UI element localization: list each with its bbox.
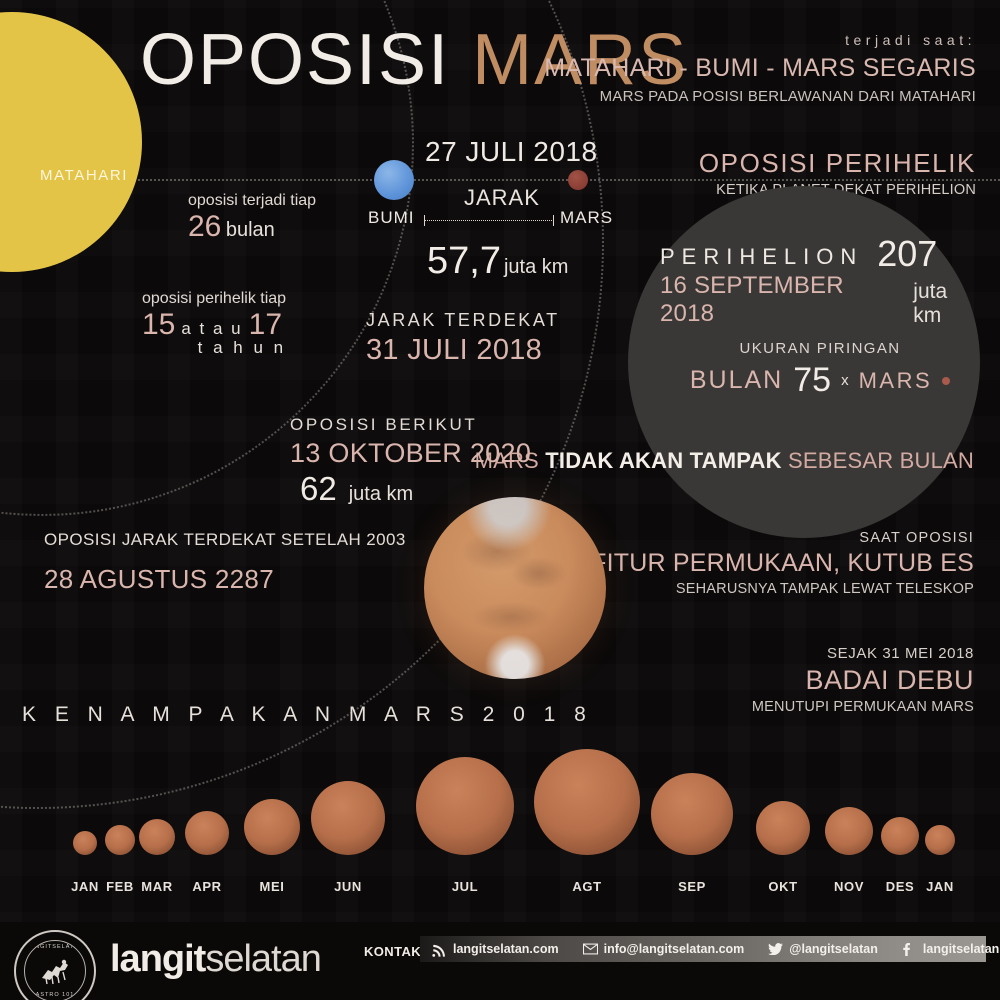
next-opposition-unit: juta km: [349, 483, 413, 506]
opposition-interval-row: 26 bulan: [188, 210, 316, 244]
disk-size-multiplier: 75: [793, 361, 831, 400]
perihelic-interval-n2: 17: [249, 308, 282, 342]
perihelic-interval-or: a t a u: [181, 319, 242, 339]
mars-size-timeline: JANFEBMARAPRMEIJUNJULAGTSEPOKTNOVDESJAN: [0, 745, 1000, 895]
mars-disk-okt: [756, 801, 810, 855]
opposition-interval-unit: bulan: [226, 219, 275, 241]
opposition-interval-block: oposisi terjadi tiap 26 bulan: [188, 192, 316, 244]
moon-word: BULAN: [690, 366, 783, 395]
email-icon: [583, 943, 598, 956]
occurs-when-block: terjadi saat: MATAHARI - BUMI - MARS SEG…: [544, 32, 976, 105]
next-opposition-caption: OPOSISI BERIKUT: [290, 415, 531, 435]
mars-disk-small: [568, 170, 588, 190]
opposition-date: 27 JULI 2018: [425, 136, 598, 168]
dust-storm-caption: SEJAK 31 MEI 2018: [752, 645, 974, 662]
logo-bottom-text: ASTRO 101: [25, 992, 85, 998]
month-label-jul: JUL: [452, 879, 478, 894]
mars-photo-large: [424, 497, 606, 679]
brand-selatan: selatan: [205, 938, 321, 980]
contact-text: @langitselatan: [789, 942, 878, 956]
occurs-when-line1: MATAHARI - BUMI - MARS SEGARIS: [544, 54, 976, 83]
month-label-okt: OKT: [768, 879, 797, 894]
closest-after-2003-caption: OPOSISI JARAK TERDEKAT SETELAH 2003: [44, 530, 406, 550]
distance-word: JARAK: [464, 185, 540, 211]
month-label-des: DES: [886, 879, 915, 894]
contact-label: KONTAK:: [364, 944, 426, 959]
opposition-interval-number: 26: [188, 210, 221, 243]
earth-disk: [374, 160, 414, 200]
perihelic-interval-row: 15 a t a u 17: [142, 308, 286, 342]
contact-email[interactable]: info@langitselatan.com: [571, 942, 757, 956]
earth-label: BUMI: [368, 208, 415, 228]
mars-disk-jan: [925, 825, 955, 855]
month-label-apr: APR: [192, 879, 221, 894]
mars-disk-jun: [311, 781, 385, 855]
surface-features-block: SAAT OPOSISI FITUR PERMUKAAN, KUTUB ES S…: [591, 530, 974, 597]
opposition-interval-caption: oposisi terjadi tiap: [188, 192, 316, 210]
mars-disk-agt: [534, 749, 640, 855]
mars-disk-des: [881, 817, 919, 855]
disk-size-row: BULAN 75 x MARS: [660, 361, 980, 400]
langitselatan-logo: LANGITSELATAN ASTRO 101: [14, 930, 96, 1000]
closest-after-2003-block: OPOSISI JARAK TERDEKAT SETELAH 2003 28 A…: [44, 530, 406, 595]
contact-twitter[interactable]: @langitselatan: [756, 942, 890, 956]
next-opposition-date: 13 OKTOBER 2020: [290, 438, 531, 469]
perihelion-row-1: PERIHELION 207: [660, 238, 980, 270]
surface-features-main: FITUR PERMUKAAN, KUTUB ES: [591, 549, 974, 578]
month-label-mar: MAR: [141, 879, 172, 894]
closest-distance-block: JARAK TERDEKAT 31 JULI 2018: [366, 310, 560, 367]
contact-text: langitselatan.com: [453, 942, 559, 956]
month-label-mei: MEI: [260, 879, 285, 894]
next-opposition-number: 62: [300, 470, 337, 508]
appearance-section-heading: K E N A M P A K A N M A R S 2 0 1 8: [22, 703, 592, 727]
mars-disk-feb: [105, 825, 135, 855]
surface-features-sub: SEHARUSNYA TAMPAK LEWAT TELESKOP: [591, 581, 974, 597]
brand-langit: langit: [110, 938, 205, 980]
month-label-feb: FEB: [106, 879, 134, 894]
infographic-poster: MATAHARI OPOSISI MARS terjadi saat: MATA…: [0, 0, 1000, 1000]
month-label-sep: SEP: [678, 879, 706, 894]
mars-word: MARS: [859, 368, 933, 394]
sun-label: MATAHARI: [40, 167, 128, 184]
title-part-oposisi: OPOSISI: [140, 20, 450, 100]
month-label-agt: AGT: [572, 879, 601, 894]
contact-bar: langitselatan.cominfo@langitselatan.com@…: [420, 936, 986, 962]
perihelion-distance-number: 207: [877, 238, 937, 270]
mars-disk-jan: [73, 831, 97, 855]
dust-storm-sub: MENUTUPI PERMUKAAN MARS: [752, 699, 974, 715]
occurs-when-line2: MARS PADA POSISI BERLAWANAN DARI MATAHAR…: [544, 88, 976, 105]
perihelic-interval-caption: oposisi perihelik tiap: [142, 290, 286, 308]
tampak-bold: TIDAK AKAN TAMPAK: [545, 448, 781, 473]
logo-top-text: LANGITSELATAN: [25, 944, 85, 950]
perihelion-block: PERIHELION 207 16 SEPTEMBER 2018 juta km: [660, 238, 980, 328]
closest-distance-date: 31 JULI 2018: [366, 334, 560, 367]
brand-wordmark: langitselatan: [110, 940, 321, 978]
contact-text: info@langitselatan.com: [604, 942, 745, 956]
mars-disk-mar: [139, 819, 175, 855]
distance-number: 57,7: [427, 240, 501, 283]
surface-features-caption: SAAT OPOSISI: [591, 530, 974, 546]
month-label-nov: NOV: [834, 879, 864, 894]
perihelic-interval-n1: 15: [142, 308, 175, 342]
tampak-post: SEBESAR BULAN: [782, 448, 974, 473]
perihelic-interval-block: oposisi perihelik tiap 15 a t a u 17 t a…: [142, 290, 286, 358]
contact-facebook[interactable]: langitselatan: [890, 942, 1000, 956]
facebook-icon: [902, 943, 917, 956]
mars-scale-dot-icon: [942, 377, 950, 385]
closest-distance-caption: JARAK TERDEKAT: [366, 310, 560, 331]
twitter-icon: [768, 943, 783, 956]
mars-disk-nov: [825, 807, 873, 855]
disk-size-caption: UKURAN PIRINGAN: [660, 340, 980, 357]
next-opposition-block: OPOSISI BERIKUT 13 OKTOBER 2020 62 juta …: [290, 415, 531, 508]
perihelion-distance-unit: juta km: [913, 280, 980, 328]
distance-value-block: 57,7 juta km: [427, 240, 568, 283]
times-symbol: x: [841, 372, 849, 389]
distance-unit: juta km: [504, 256, 568, 279]
mars-disk-jul: [416, 757, 514, 855]
mars-disk-apr: [185, 811, 229, 855]
disk-size-block: UKURAN PIRINGAN BULAN 75 x MARS: [660, 340, 980, 400]
dust-storm-main: BADAI DEBU: [752, 665, 974, 696]
distance-bracket-icon: [424, 215, 554, 227]
perihelion-row-2: 16 SEPTEMBER 2018 juta km: [660, 272, 980, 328]
mars-disk-mei: [244, 799, 300, 855]
perihelion-date: 16 SEPTEMBER 2018: [660, 272, 901, 328]
centaur-icon: [38, 956, 72, 986]
perihelic-title: OPOSISI PERIHELIK: [699, 148, 976, 179]
contact-text: langitselatan: [923, 942, 999, 956]
closest-after-2003-date: 28 AGUSTUS 2287: [44, 564, 406, 595]
month-label-jan: JAN: [71, 879, 99, 894]
perihelion-word: PERIHELION: [660, 244, 863, 270]
month-label-jun: JUN: [334, 879, 362, 894]
month-label-jan: JAN: [926, 879, 954, 894]
mars-label: MARS: [560, 208, 613, 228]
dust-storm-block: SEJAK 31 MEI 2018 BADAI DEBU MENUTUPI PE…: [752, 645, 974, 715]
not-as-big-as-moon-statement: MARS TIDAK AKAN TAMPAK SEBESAR BULAN: [475, 448, 974, 474]
occurs-when-eyebrow: terjadi saat:: [544, 32, 976, 48]
mars-disk-sep: [651, 773, 733, 855]
rss-icon: [432, 943, 447, 956]
contact-rss[interactable]: langitselatan.com: [420, 942, 571, 956]
